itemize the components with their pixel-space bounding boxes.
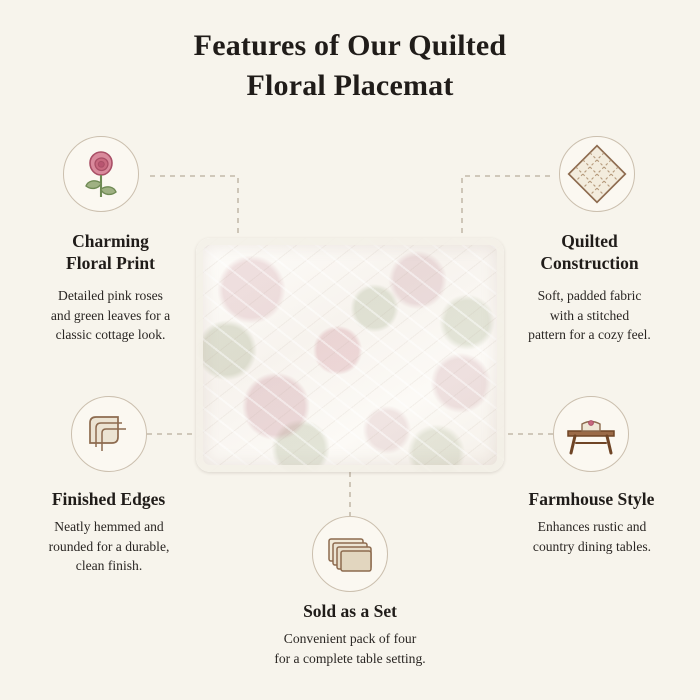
feature-heading-line-1: Farmhouse Style bbox=[499, 488, 684, 510]
page-title: Features of Our Quilted Floral Placemat bbox=[0, 26, 700, 106]
feature-heading-line-1: Charming bbox=[18, 230, 203, 252]
infographic-root: Features of Our Quilted Floral Placemat … bbox=[0, 0, 700, 700]
feature-body-line-3: pattern for a cozy feel. bbox=[491, 325, 688, 345]
quilted-diamond-grid-icon bbox=[560, 137, 634, 211]
feature-heading-line-1: Quilted bbox=[497, 230, 682, 252]
feature-badge-finished-edges bbox=[71, 396, 147, 472]
feature-badge-charming-floral-print bbox=[63, 136, 139, 212]
feature-heading-line-1: Sold as a Set bbox=[255, 600, 445, 622]
feature-body-line-2: and green leaves for a bbox=[12, 306, 209, 326]
feature-heading-farmhouse-style: Farmhouse Style bbox=[499, 488, 684, 510]
feature-badge-quilted-construction bbox=[559, 136, 635, 212]
feature-heading-line-2: Construction bbox=[497, 252, 682, 274]
feature-body-line-1: Convenient pack of four bbox=[200, 629, 500, 649]
farmhouse-table-icon bbox=[554, 397, 628, 471]
feature-body-line-2: country dining tables. bbox=[494, 537, 690, 557]
feature-body-line-2: rounded for a durable, bbox=[12, 537, 206, 557]
feature-body-line-1: Enhances rustic and bbox=[494, 517, 690, 537]
stacked-placemats-icon bbox=[313, 517, 387, 591]
feature-body-line-1: Soft, padded fabric bbox=[491, 286, 688, 306]
feature-body-line-1: Detailed pink roses bbox=[12, 286, 209, 306]
feature-body-line-3: classic cottage look. bbox=[12, 325, 209, 345]
feature-heading-finished-edges: Finished Edges bbox=[16, 488, 201, 510]
feature-body-quilted-construction: Soft, padded fabric with a stitched patt… bbox=[491, 286, 688, 345]
feature-body-line-3: clean finish. bbox=[12, 556, 206, 576]
hemmed-corner-icon bbox=[72, 397, 146, 471]
feature-heading-sold-as-a-set: Sold as a Set bbox=[255, 600, 445, 622]
feature-heading-line-1: Finished Edges bbox=[16, 488, 201, 510]
page-title-line-1: Features of Our Quilted bbox=[194, 29, 507, 62]
feature-body-farmhouse-style: Enhances rustic and country dining table… bbox=[494, 517, 690, 556]
feature-badge-farmhouse-style bbox=[553, 396, 629, 472]
feature-body-sold-as-a-set: Convenient pack of four for a complete t… bbox=[200, 629, 500, 668]
feature-heading-charming-floral-print: Charming Floral Print bbox=[18, 230, 203, 274]
feature-body-line-2: for a complete table setting. bbox=[200, 649, 500, 669]
feature-heading-quilted-construction: Quilted Construction bbox=[497, 230, 682, 274]
feature-body-charming-floral-print: Detailed pink roses and green leaves for… bbox=[12, 286, 209, 345]
feature-badge-sold-as-a-set bbox=[312, 516, 388, 592]
rose-flower-icon bbox=[64, 137, 138, 211]
feature-body-line-2: with a stitched bbox=[491, 306, 688, 326]
feature-heading-line-2: Floral Print bbox=[18, 252, 203, 274]
product-image bbox=[196, 238, 504, 472]
product-image-edge bbox=[196, 238, 504, 472]
page-title-line-2: Floral Placemat bbox=[0, 66, 700, 106]
feature-body-line-1: Neatly hemmed and bbox=[12, 517, 206, 537]
feature-body-finished-edges: Neatly hemmed and rounded for a durable,… bbox=[12, 517, 206, 576]
